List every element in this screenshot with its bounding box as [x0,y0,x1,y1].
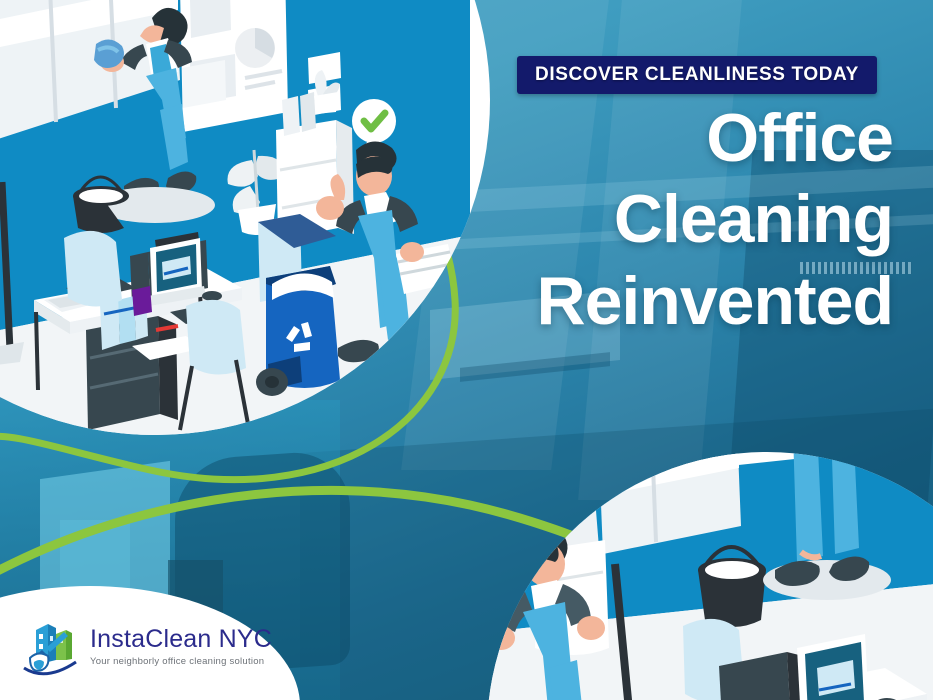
eyebrow-badge-label: DISCOVER CLEANLINESS TODAY [535,65,859,84]
brand-name: InstaClean NYC [90,627,272,652]
marketing-banner: DISCOVER CLEANLINESS TODAY Office Cleani… [0,0,933,700]
mop-bucket [698,547,766,627]
office-mopping-illustration [487,452,933,700]
instaclean-logo-icon [18,614,82,680]
headline-line-1: Office [273,104,893,173]
headline-line-2: Cleaning [273,185,893,254]
page-title: Office Cleaning Reinvented [273,104,893,336]
eyebrow-badge: DISCOVER CLEANLINESS TODAY [517,56,877,94]
illustration-circle-bottom-right [487,452,933,700]
brand-tagline: Your neighborly office cleaning solution [90,657,272,667]
brand-logo[interactable]: InstaClean NYC Your neighborly office cl… [18,614,272,680]
headline-line-3: Reinvented [273,267,893,336]
